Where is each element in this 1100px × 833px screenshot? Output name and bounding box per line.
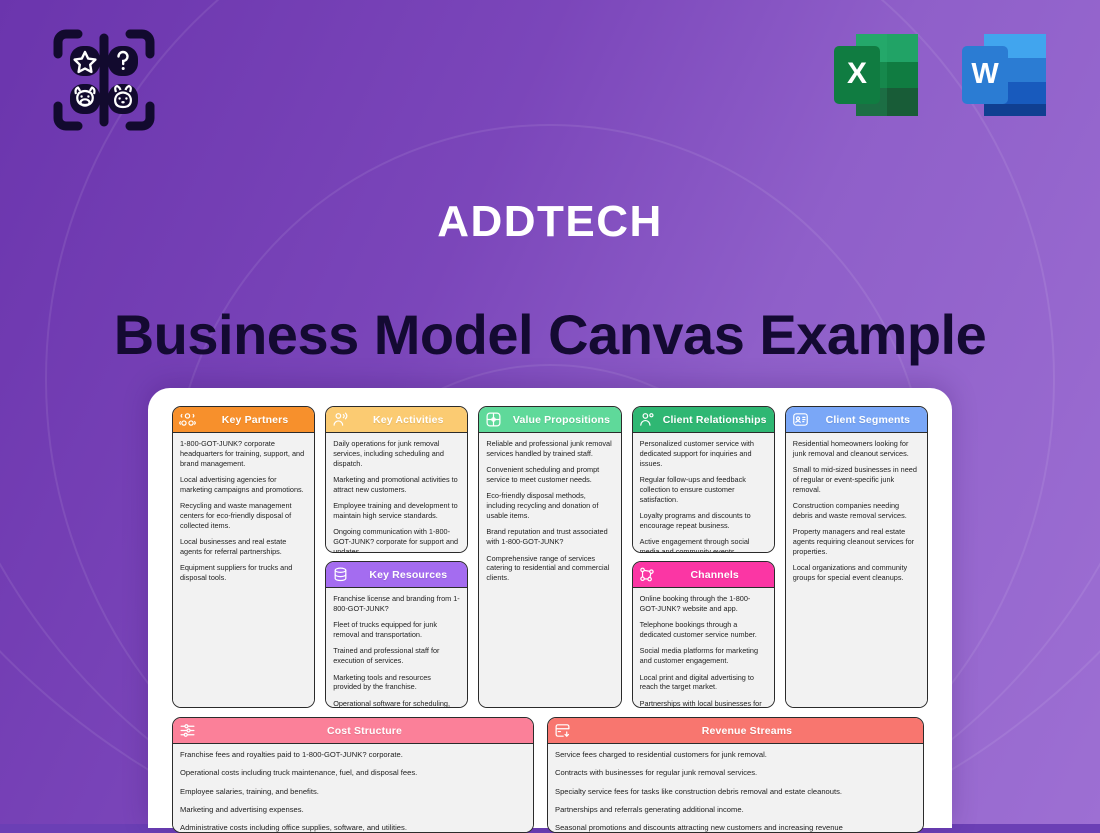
canvas-cell-channels: Channels Online booking through the 1-80… [632, 561, 775, 708]
card-bullet: Ongoing communication with 1-800-GOT-JUN… [333, 527, 460, 552]
card-bullet: Trained and professional staff for execu… [333, 646, 460, 666]
card-bullet: Local businesses and real estate agents … [180, 537, 307, 557]
card-channels[interactable]: Channels Online booking through the 1-80… [632, 561, 775, 708]
card-body: Daily operations for junk removal servic… [326, 433, 467, 552]
canvas-bottom-row: Cost Structure Franchise fees and royalt… [172, 717, 928, 833]
card-revenue-streams[interactable]: Revenue Streams Service fees charged to … [547, 717, 924, 833]
card-title: Key Partners [202, 414, 308, 426]
page-title: Business Model Canvas Example [0, 306, 1100, 365]
card-bullet: Marketing tools and resources provided b… [333, 673, 460, 693]
card-bullet: Administrative costs including office su… [180, 823, 526, 832]
card-bullet: Contracts with businesses for regular ju… [555, 768, 916, 778]
card-body: Residential homeowners looking for junk … [786, 433, 927, 707]
card-body: Personalized customer service with dedic… [633, 433, 774, 552]
card-header: Channels [633, 562, 774, 588]
card-bullet: Operational software for scheduling, rou… [333, 699, 460, 707]
card-bullet: Recycling and waste management centers f… [180, 501, 307, 531]
card-bullet: Small to mid-sized businesses in need of… [793, 465, 920, 495]
card-bullet: Brand reputation and trust associated wi… [486, 527, 613, 547]
card-header: Client Relationships [633, 407, 774, 433]
card-bullet: Marketing and advertising expenses. [180, 805, 526, 815]
card-title: Revenue Streams [577, 725, 917, 737]
sliders-settings-icon [179, 722, 196, 739]
card-bullet: Specialty service fees for tasks like co… [555, 787, 916, 797]
svg-text:X: X [847, 57, 867, 90]
people-group-icon [639, 411, 656, 428]
card-value-propositions[interactable]: Value Propositions Reliable and professi… [478, 406, 621, 708]
card-title: Key Activities [355, 414, 461, 426]
card-title: Value Propositions [508, 414, 614, 426]
card-header: Cost Structure [173, 718, 533, 744]
card-bullet: Convenient scheduling and prompt service… [486, 465, 613, 485]
card-header: Client Segments [786, 407, 927, 433]
credit-card-income-icon [554, 722, 571, 739]
card-client-relationships[interactable]: Client Relationships Personalized custom… [632, 406, 775, 553]
canvas-grid: Key Partners 1-800-GOT-JUNK? corporate h… [172, 406, 928, 708]
card-bullet: Equipment suppliers for trucks and dispo… [180, 563, 307, 583]
card-bullet: Employee training and development to mai… [333, 501, 460, 521]
microsoft-word-icon: W [956, 26, 1054, 124]
card-title: Key Resources [355, 569, 461, 581]
card-bullet: Social media platforms for marketing and… [640, 646, 767, 666]
brand-eyebrow: ADDTECH [0, 200, 1100, 244]
canvas-cell-key-activities: Key Activities Daily operations for junk… [325, 406, 468, 553]
card-bullet: Partnerships and referrals generating ad… [555, 805, 916, 815]
partners-handshake-icon [179, 411, 196, 428]
card-bullet: Property managers and real estate agents… [793, 527, 920, 557]
card-bullet: Daily operations for junk removal servic… [333, 439, 460, 469]
card-bullet: Personalized customer service with dedic… [640, 439, 767, 469]
card-bullet: Local advertising agencies for marketing… [180, 475, 307, 495]
card-header: Key Activities [326, 407, 467, 433]
card-bullet: Fleet of trucks equipped for junk remova… [333, 620, 460, 640]
card-header: Revenue Streams [548, 718, 923, 744]
network-nodes-icon [639, 566, 656, 583]
card-bullet: Seasonal promotions and discounts attrac… [555, 823, 916, 832]
gift-box-icon [485, 411, 502, 428]
card-bullet: Construction companies needing debris an… [793, 501, 920, 521]
microsoft-excel-icon: X [828, 26, 926, 124]
database-stack-icon [332, 566, 349, 583]
card-bullet: Residential homeowners looking for junk … [793, 439, 920, 459]
card-client-segments[interactable]: Client Segments Residential homeowners l… [785, 406, 928, 708]
canvas-cell-value-propositions: Value Propositions Reliable and professi… [478, 406, 621, 708]
card-bullet: Partnerships with local businesses for c… [640, 699, 767, 707]
card-bullet: Franchise fees and royalties paid to 1-8… [180, 750, 526, 760]
card-bullet: Reliable and professional junk removal s… [486, 439, 613, 459]
card-bullet: Employee salaries, training, and benefit… [180, 787, 526, 797]
canvas-cell-client-segments: Client Segments Residential homeowners l… [785, 406, 928, 708]
card-bullet: 1-800-GOT-JUNK? corporate headquarters f… [180, 439, 307, 469]
business-model-canvas-panel: Key Partners 1-800-GOT-JUNK? corporate h… [148, 388, 952, 828]
hero-text-block: ADDTECH Business Model Canvas Example [0, 200, 1100, 365]
canvas-cell-key-partners: Key Partners 1-800-GOT-JUNK? corporate h… [172, 406, 315, 708]
card-bullet: Franchise license and branding from 1-80… [333, 594, 460, 614]
card-body: Franchise fees and royalties paid to 1-8… [173, 744, 533, 832]
card-title: Channels [662, 569, 768, 581]
card-key-partners[interactable]: Key Partners 1-800-GOT-JUNK? corporate h… [172, 406, 315, 708]
card-bullet: Local organizations and community groups… [793, 563, 920, 583]
card-bullet: Marketing and promotional activities to … [333, 475, 460, 495]
card-bullet: Regular follow-ups and feedback collecti… [640, 475, 767, 505]
office-app-icons: X W [828, 26, 1054, 124]
card-body: Service fees charged to residential cust… [548, 744, 923, 832]
card-bullet: Eco-friendly disposal methods, including… [486, 491, 613, 521]
card-cost-structure[interactable]: Cost Structure Franchise fees and royalt… [172, 717, 534, 833]
card-header: Key Resources [326, 562, 467, 588]
card-title: Client Relationships [662, 414, 768, 426]
card-body: Franchise license and branding from 1-80… [326, 588, 467, 707]
card-body: 1-800-GOT-JUNK? corporate headquarters f… [173, 433, 314, 707]
canvas-cell-client-relationships: Client Relationships Personalized custom… [632, 406, 775, 553]
id-card-icon [792, 411, 809, 428]
card-bullet: Comprehensive range of services catering… [486, 554, 613, 584]
person-megaphone-icon [332, 411, 349, 428]
svg-text:W: W [971, 58, 999, 90]
card-bullet: Telephone bookings through a dedicated c… [640, 620, 767, 640]
card-title: Client Segments [815, 414, 921, 426]
card-bullet: Local print and digital advertising to r… [640, 673, 767, 693]
scan-frame-quiz-animals-icon [48, 24, 160, 136]
card-title: Cost Structure [202, 725, 527, 737]
card-bullet: Operational costs including truck mainte… [180, 768, 526, 778]
card-key-activities[interactable]: Key Activities Daily operations for junk… [325, 406, 468, 553]
card-bullet: Active engagement through social media a… [640, 537, 767, 552]
canvas-cell-key-resources: Key Resources Franchise license and bran… [325, 561, 468, 708]
card-header: Value Propositions [479, 407, 620, 433]
card-bullet: Loyalty programs and discounts to encour… [640, 511, 767, 531]
card-body: Online booking through the 1-800-GOT-JUN… [633, 588, 774, 707]
card-key-resources[interactable]: Key Resources Franchise license and bran… [325, 561, 468, 708]
card-bullet: Online booking through the 1-800-GOT-JUN… [640, 594, 767, 614]
card-header: Key Partners [173, 407, 314, 433]
card-bullet: Service fees charged to residential cust… [555, 750, 916, 760]
card-body: Reliable and professional junk removal s… [479, 433, 620, 707]
